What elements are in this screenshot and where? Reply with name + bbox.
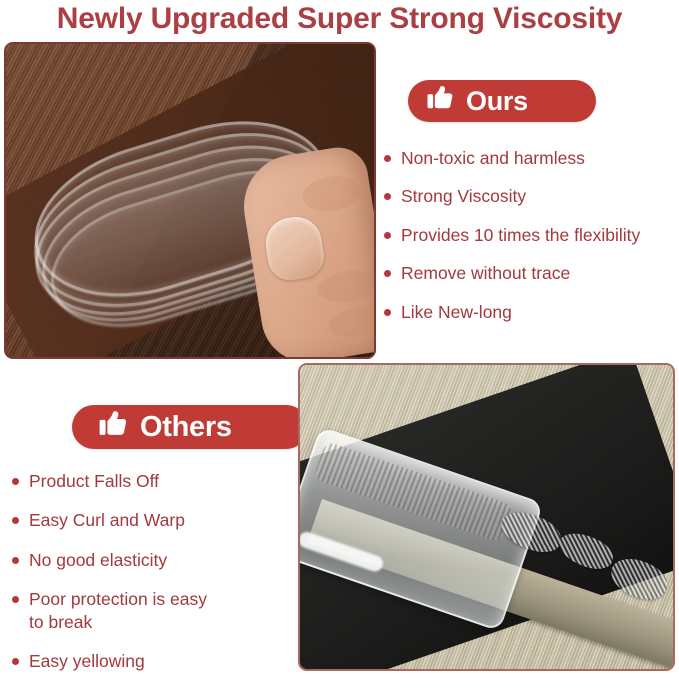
thumb <box>262 213 327 283</box>
ours-feature-list: Non-toxic and harmless Strong Viscosity … <box>382 147 677 339</box>
others-badge-label: Others <box>140 413 232 442</box>
list-item: Non-toxic and harmless <box>382 147 677 169</box>
list-item: No good elasticity <box>10 549 292 571</box>
list-item: Remove without trace <box>382 262 677 284</box>
list-item: Like New-long <box>382 301 677 323</box>
list-item: Easy Curl and Warp <box>10 509 292 531</box>
list-item: Poor protection is easy to break <box>10 588 292 633</box>
thumbs-up-icon <box>426 85 456 118</box>
others-badge: Others <box>72 405 308 449</box>
page-title: Newly Upgraded Super Strong Viscosity <box>0 0 679 40</box>
list-item: Easy yellowing <box>10 650 292 672</box>
ours-product-photo <box>4 42 376 359</box>
ours-badge-label: Ours <box>466 88 528 115</box>
ours-badge: Ours <box>408 80 596 122</box>
knuckle <box>315 267 376 306</box>
knuckle <box>300 172 363 215</box>
others-drawback-list: Product Falls Off Easy Curl and Warp No … <box>10 470 292 689</box>
list-item: Provides 10 times the flexibility <box>382 224 677 246</box>
thumbs-up-icon <box>98 410 130 445</box>
list-item: Strong Viscosity <box>382 185 677 207</box>
knuckle <box>327 304 376 341</box>
list-item: Product Falls Off <box>10 470 292 492</box>
others-product-photo <box>298 363 675 671</box>
